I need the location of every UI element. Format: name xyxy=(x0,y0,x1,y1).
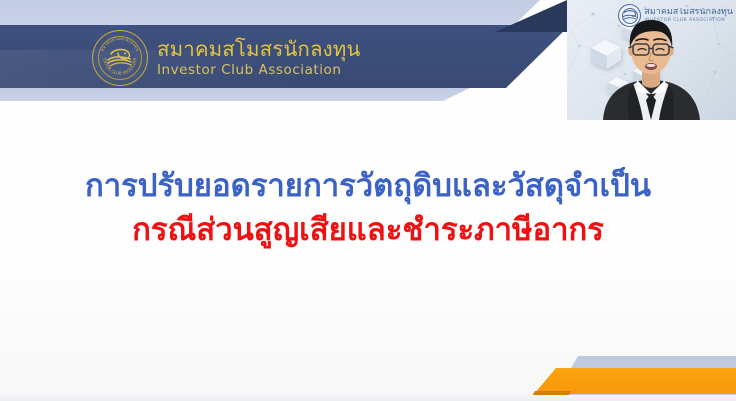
header-top-accent-band xyxy=(0,0,540,25)
association-name-block: สมาคมสโมสรนักลงทุน Investor Club Associa… xyxy=(157,39,360,78)
presenter-figure xyxy=(567,0,736,120)
seal-bird-icon xyxy=(105,46,135,72)
org-name-th: สมาคมสโมสรนักลงทุน xyxy=(157,39,360,60)
slide-title-block: การปรับยอดรายการวัตถุดิบและวัสดุจำเป็น ก… xyxy=(0,168,736,248)
presenter-webcam-panel[interactable]: สมาคมสโมสรนักลงทุน INVESTOR CLUB ASSOCIA… xyxy=(567,0,736,120)
association-seal-icon: สมาคมสโมสรนักลงทุน INVESTOR CLUB ASSOCIA… xyxy=(92,30,148,86)
org-name-en: Investor Club Association xyxy=(157,64,360,78)
slide-title-line-1: การปรับยอดรายการวัตถุดิบและวัสดุจำเป็น xyxy=(0,168,736,205)
footer-baseline xyxy=(0,395,736,401)
presentation-slide: สมาคมสโมสรนักลงทุน INVESTOR CLUB ASSOCIA… xyxy=(0,0,736,401)
footer-orange-accent-shape xyxy=(534,368,736,394)
association-logo: สมาคมสโมสรนักลงทุน INVESTOR CLUB ASSOCIA… xyxy=(92,30,360,86)
header-bottom-accent-band xyxy=(0,88,470,101)
slide-title-line-2: กรณีส่วนสูญเสียและชำระภาษีอากร xyxy=(0,212,736,249)
